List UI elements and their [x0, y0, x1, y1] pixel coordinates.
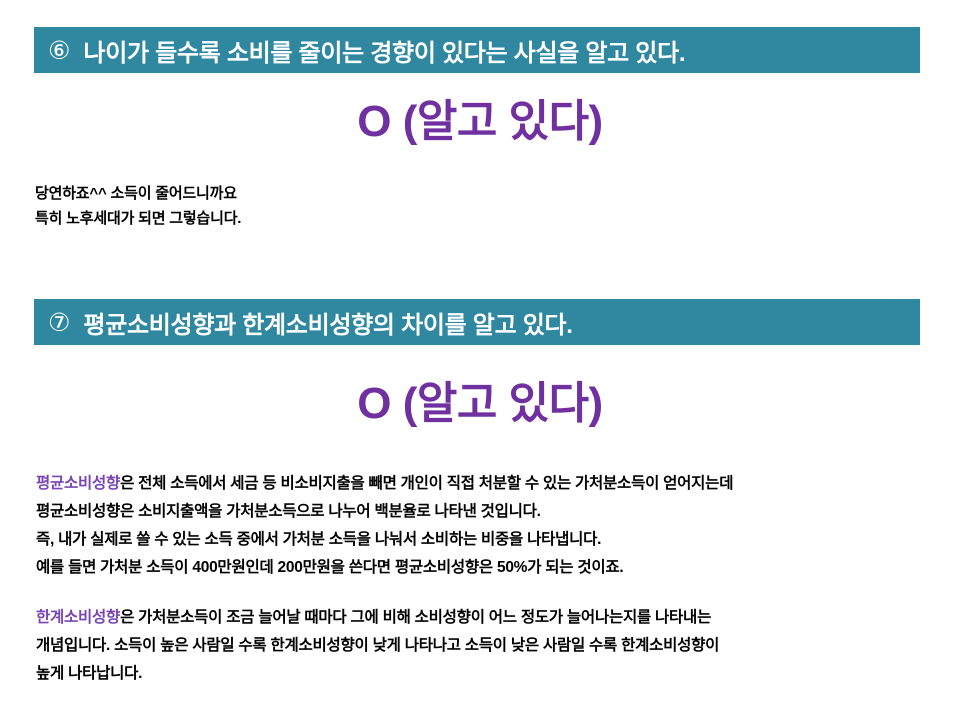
slide-canvas: ⑥ 나이가 들수록 소비를 줄이는 경향이 있다는 사실을 알고 있다. O (…: [0, 0, 960, 720]
paragraph-line: 예를 들면 가처분 소득이 400만원인데 200만원을 쓴다면 평균소비성향은…: [36, 554, 941, 582]
paragraph-marginal-propensity: 한계소비성향은 가처분소득이 조금 늘어날 때마다 그에 비해 소비성향이 어느…: [36, 604, 941, 688]
section-header-text-2: 평균소비성향과 한계소비성향의 차이를 알고 있다.: [83, 305, 572, 340]
circled-number-icon-6: ⑥: [48, 38, 70, 63]
paragraph-line: 평균소비성향은 전체 소득에서 세금 등 비소비지출을 빼면 개인이 직접 처분…: [36, 470, 941, 498]
paragraph-line: 평균소비성향은 소비지출액을 가처분소득으로 나누어 백분율로 나타낸 것입니다…: [36, 498, 941, 526]
section-body-2: 평균소비성향은 전체 소득에서 세금 등 비소비지출을 빼면 개인이 직접 처분…: [36, 470, 941, 688]
section-answer-2: O (알고 있다): [0, 382, 960, 426]
section-header-bar-1: ⑥ 나이가 들수록 소비를 줄이는 경향이 있다는 사실을 알고 있다.: [34, 27, 920, 73]
section-answer-1: O (알고 있다): [0, 100, 960, 144]
paragraph-line: 개념입니다. 소득이 높은 사람일 수록 한계소비성향이 낮게 나타나고 소득이…: [36, 632, 941, 660]
note-line: 특히 노후세대가 되면 그렇습니다.: [35, 206, 241, 231]
paragraph-average-propensity: 평균소비성향은 전체 소득에서 세금 등 비소비지출을 빼면 개인이 직접 처분…: [36, 470, 941, 582]
paragraph-spacer: [36, 582, 941, 604]
paragraph-line-text: 은 가처분소득이 조금 늘어날 때마다 그에 비해 소비성향이 어느 정도가 늘…: [120, 609, 711, 626]
paragraph-line: 한계소비성향은 가처분소득이 조금 늘어날 때마다 그에 비해 소비성향이 어느…: [36, 604, 941, 632]
paragraph-line-text: 은 전체 소득에서 세금 등 비소비지출을 빼면 개인이 직접 처분할 수 있는…: [120, 475, 733, 492]
keyword-marginal-propensity: 한계소비성향: [36, 609, 120, 626]
note-line: 당연하죠^^ 소득이 줄어드니까요: [35, 181, 241, 206]
paragraph-line: 즉, 내가 실제로 쓸 수 있는 소득 중에서 가처분 소득을 나눠서 소비하는…: [36, 526, 941, 554]
section-note-1: 당연하죠^^ 소득이 줄어드니까요 특히 노후세대가 되면 그렇습니다.: [35, 181, 241, 231]
keyword-average-propensity: 평균소비성향: [36, 475, 120, 492]
circled-number-icon-7: ⑦: [48, 310, 70, 335]
section-header-bar-2: ⑦ 평균소비성향과 한계소비성향의 차이를 알고 있다.: [34, 299, 920, 345]
paragraph-line: 높게 나타납니다.: [36, 660, 941, 688]
section-header-text-1: 나이가 들수록 소비를 줄이는 경향이 있다는 사실을 알고 있다.: [83, 33, 685, 68]
